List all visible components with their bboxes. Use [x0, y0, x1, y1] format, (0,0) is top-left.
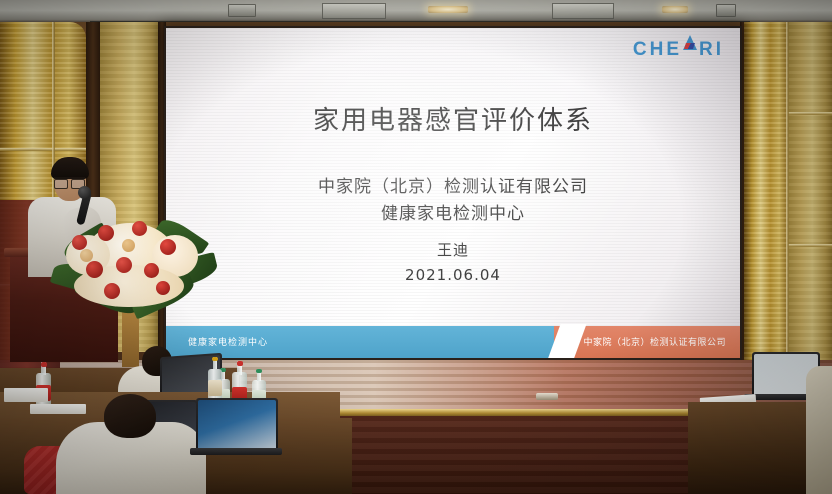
microphone-head [78, 186, 91, 199]
conference-photo: CHERI CHEARI 家用电器感官评价体系 中家院（北京）检测认证有限公司 … [0, 0, 832, 494]
ceiling-vent [552, 3, 614, 19]
rose [86, 261, 103, 278]
rose [144, 263, 159, 278]
laptop-center-base [190, 448, 282, 455]
rose [132, 221, 147, 236]
audience-person-right [806, 366, 832, 494]
presentation-date: 2021.06.04 [166, 263, 740, 288]
ceiling-vent [322, 3, 386, 19]
gold-wall-panel-right [744, 22, 788, 374]
gold-wall-panel-far-right [788, 22, 832, 374]
ceiling-light [662, 6, 688, 13]
slide-meta: 王迪 2021.06.04 [166, 238, 740, 288]
rose [104, 283, 120, 299]
organization-line-2: 健康家电检测中心 [166, 201, 740, 228]
rose [156, 281, 170, 295]
name-card [4, 388, 48, 402]
front-person-head [104, 394, 156, 438]
logo-text-che: CHE [633, 39, 682, 61]
right-person-body [806, 366, 832, 494]
slide-footer: 健康家电检测中心 中家院（北京）检测认证有限公司 [166, 326, 740, 358]
slide-organization: 中家院（北京）检测认证有限公司 健康家电检测中心 [166, 174, 740, 228]
cheari-logo: CHERI CHEARI [633, 39, 724, 61]
projection-screen: CHERI CHEARI 家用电器感官评价体系 中家院（北京）检测认证有限公司 … [166, 28, 740, 358]
speaker-glasses [54, 177, 85, 187]
rose [160, 239, 176, 255]
rose [98, 225, 114, 241]
ceiling-slot [716, 4, 736, 17]
rose [116, 257, 132, 273]
logo-text-ri: RI [699, 39, 724, 61]
presenter-name: 王迪 [166, 238, 740, 263]
flower-peach [80, 249, 93, 262]
slide-title: 家用电器感官评价体系 [166, 100, 740, 137]
rose [72, 235, 87, 250]
water-bottle [36, 362, 51, 410]
ceiling-light [428, 6, 468, 13]
panel-trim [786, 22, 789, 374]
panel-trim [0, 148, 86, 151]
panel-trim [788, 112, 832, 115]
audience-person-front [56, 394, 206, 494]
speaker-hair [51, 157, 89, 179]
flower-peach [122, 239, 135, 252]
laptop-center [196, 398, 278, 452]
footer-right-text: 中家院（北京）检测认证有限公司 [583, 335, 726, 348]
ceiling-slot [228, 4, 256, 17]
floral-arrangement [56, 205, 216, 365]
panel-trim [788, 244, 832, 247]
organization-line-1: 中家院（北京）检测认证有限公司 [166, 174, 740, 201]
